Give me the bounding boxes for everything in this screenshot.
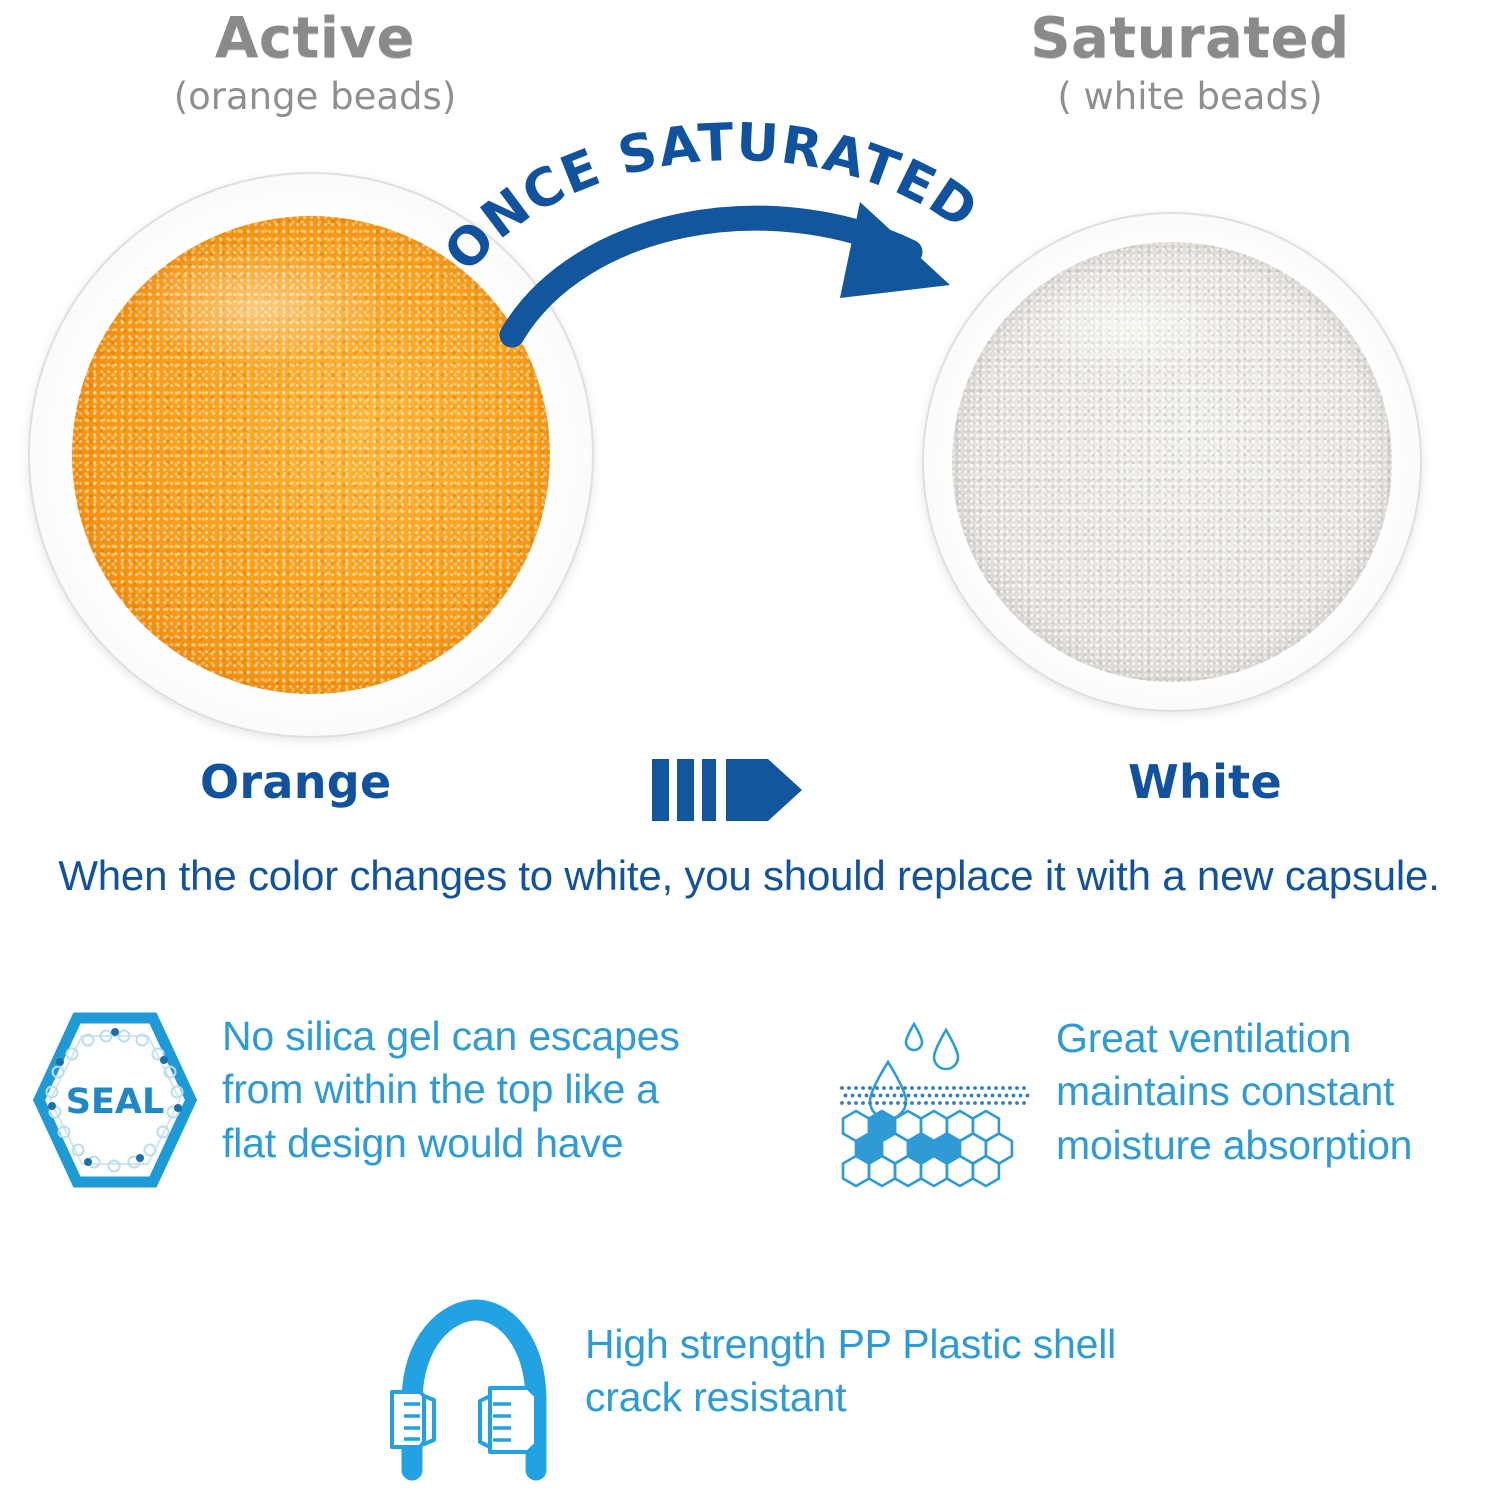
seal-icon-text: SEAL: [66, 1082, 165, 1122]
honeycomb-grid: [843, 1111, 1012, 1186]
feature-ventilation-line-2: maintains constant: [1056, 1065, 1412, 1118]
dotted-membrane: [840, 1086, 1029, 1105]
feature-ventilation-line-1: Great ventilation: [1056, 1012, 1412, 1065]
infographic-canvas: Active (orange beads) Saturated ( white …: [0, 0, 1498, 1498]
feature-seal-text: No silica gel can escapes from within th…: [222, 1010, 680, 1170]
header-saturated-title: Saturated: [955, 10, 1425, 69]
seal-hexagon-icon: SEAL: [30, 1010, 200, 1190]
feature-pp-line-1: High strength PP Plastic shell: [585, 1318, 1116, 1371]
three-bars-arrow-right-icon: [650, 755, 850, 825]
hands-bending-rod-icon: [390, 1292, 565, 1487]
feature-ventilation-text: Great ventilation maintains constant moi…: [1056, 1010, 1412, 1172]
feature-seal: SEAL No silica gel can escapes from with…: [30, 1010, 790, 1190]
feature-seal-line-2: from within the top like a: [222, 1063, 680, 1116]
feature-ventilation-line-3: moisture absorption: [1056, 1119, 1412, 1172]
replacement-instruction: When the color changes to white, you sho…: [0, 852, 1498, 900]
feature-pp-shell-text: High strength PP Plastic shell crack res…: [585, 1292, 1116, 1425]
label-white: White: [1128, 755, 1282, 809]
water-droplet-icon: [870, 1024, 958, 1119]
header-active-title: Active: [80, 10, 550, 69]
honeycomb-ventilation-icon: [838, 1010, 1038, 1200]
once-saturated-arrow-group: ONCE SATURATED: [440, 80, 1040, 340]
feature-ventilation: Great ventilation maintains constant moi…: [838, 1010, 1498, 1200]
feature-seal-line-1: No silica gel can escapes: [222, 1010, 680, 1063]
feature-seal-line-3: flat design would have: [222, 1117, 680, 1170]
label-orange: Orange: [200, 755, 392, 809]
feature-pp-shell: High strength PP Plastic shell crack res…: [390, 1292, 1190, 1487]
curved-arrow-icon: [512, 202, 950, 335]
feature-pp-line-2: crack resistant: [585, 1371, 1116, 1424]
